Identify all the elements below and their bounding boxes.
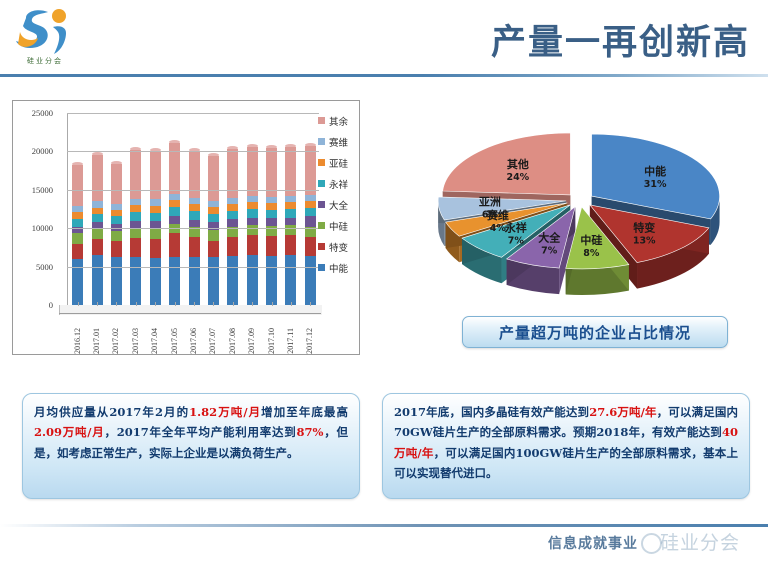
bar-segment-永祥 [227, 211, 238, 219]
pie-percent-永祥: 7% [508, 235, 525, 246]
bar-segment-大全 [305, 216, 316, 227]
bar-segment-特变 [285, 235, 296, 255]
bar-segment-亚硅 [72, 212, 83, 219]
bar-segment-其余 [111, 164, 122, 205]
note-plain: ，可以满足国内100GW硅片生产的全部原料需求，基本上可以实现替代进口。 [394, 446, 738, 480]
bar-series-container [68, 113, 320, 305]
bar-segment-中硅 [208, 230, 219, 240]
legend-swatch [318, 180, 325, 187]
x-tick-label: 2017.09 [247, 328, 256, 354]
bar-segment-大全 [285, 218, 296, 226]
x-tick-label: 2017.07 [208, 328, 217, 354]
legend-swatch [318, 243, 325, 250]
legend-label: 大全 [329, 198, 348, 212]
legend-label: 亚硅 [329, 156, 348, 170]
legend-swatch [318, 222, 325, 229]
bar-segment-永祥 [150, 213, 161, 221]
bar-segment-永祥 [169, 207, 180, 216]
bar-segment-特变 [227, 237, 238, 256]
pie-percent-其他: 24% [506, 172, 529, 183]
pie-chart-panel: 中能31%特变13%中硅8%大全7%永祥7%赛维4%亚洲6%其他24% [400, 100, 760, 310]
bar-cap [247, 144, 258, 148]
x-tick-mark [155, 302, 156, 306]
bar-segment-永祥 [92, 214, 103, 222]
bar-segment-中能 [189, 257, 200, 305]
pie-percent-特变: 13% [633, 235, 656, 246]
pie-label-其他: 其他 [507, 157, 529, 171]
footer-divider [0, 524, 768, 527]
y-tick-label: 15000 [32, 185, 53, 195]
gridline [67, 228, 319, 229]
watermark-circle-icon [641, 533, 662, 554]
bar-cap [208, 153, 219, 157]
note-plain: ，2017年全年平均产能利用率达到 [104, 425, 296, 439]
x-tick-mark [272, 302, 273, 306]
note-box-right: 2017年底，国内多晶硅有效产能达到27.6万吨/年，可以满足国内70GW硅片生… [382, 393, 750, 499]
bar-cap [266, 145, 277, 149]
x-tick-mark [116, 302, 117, 306]
bar-segment-特变 [72, 244, 83, 259]
logo-caption: 硅业分会 [14, 56, 76, 66]
x-tick-label: 2017.02 [111, 328, 120, 354]
bar-segment-亚硅 [92, 208, 103, 215]
legend-swatch [318, 159, 325, 166]
note-plain: 月均供应量从2017年2月的 [34, 405, 189, 419]
bar-cap [305, 143, 316, 147]
legend-item-赛维[interactable]: 赛维 [318, 136, 362, 147]
bar-segment-其余 [189, 151, 200, 199]
legend-item-中硅[interactable]: 中硅 [318, 220, 362, 231]
pie-percent-大全: 7% [541, 246, 558, 257]
bar-stack [247, 147, 258, 305]
x-tick-mark [78, 302, 79, 306]
x-tick-mark [233, 302, 234, 306]
legend-label: 中硅 [329, 219, 348, 233]
bar-segment-永祥 [266, 210, 277, 218]
y-tick-label: 0 [49, 300, 53, 310]
legend-item-其余[interactable]: 其余 [318, 115, 362, 126]
legend-item-永祥[interactable]: 永祥 [318, 178, 362, 189]
x-tick-mark [194, 302, 195, 306]
gridline [67, 151, 319, 152]
bar-segment-中能 [227, 256, 238, 305]
page-title: 产量一再创新高 [491, 14, 750, 65]
pie-percent-亚洲: 6% [482, 210, 499, 221]
y-tick-label: 5000 [36, 262, 53, 272]
bar-segment-中硅 [285, 225, 296, 235]
pie-percent-中硅: 8% [583, 248, 600, 259]
x-tick-label: 2017.01 [92, 328, 101, 354]
legend-label: 赛维 [329, 135, 348, 149]
bar-segment-中能 [266, 256, 277, 305]
bar-segment-中硅 [150, 229, 161, 239]
bar-segment-中硅 [111, 231, 122, 241]
bar-chart-legend: 其余赛维亚硅永祥大全中硅特变中能 [318, 115, 362, 283]
note-left-text: 月均供应量从2017年2月的1.82万吨/月增加至年底最高2.09万吨/月，20… [34, 402, 348, 463]
bar-segment-永祥 [130, 212, 141, 220]
bar-segment-特变 [305, 237, 316, 256]
bar-segment-大全 [189, 220, 200, 228]
x-tick-mark [213, 302, 214, 306]
bar-stack [92, 155, 103, 305]
pie-chart-caption-text: 产量超万吨的企业占比情况 [499, 322, 691, 343]
bar-segment-亚硅 [247, 202, 258, 209]
legend-swatch [318, 264, 325, 271]
bar-segment-中能 [150, 258, 161, 305]
bar-cap [111, 161, 122, 165]
x-tick-mark [291, 302, 292, 306]
bar-segment-大全 [130, 221, 141, 229]
note-box-left: 月均供应量从2017年2月的1.82万吨/月增加至年底最高2.09万吨/月，20… [22, 393, 360, 499]
bar-segment-大全 [169, 216, 180, 224]
gridline [67, 113, 319, 114]
bar-segment-特变 [130, 238, 141, 256]
note-highlight: 2.09万吨/月 [34, 425, 104, 439]
bar-segment-其余 [247, 147, 258, 196]
bar-segment-亚硅 [130, 205, 141, 212]
legend-swatch [318, 201, 325, 208]
x-tick-mark [97, 302, 98, 306]
legend-label: 其余 [329, 114, 348, 128]
bar-segment-亚硅 [189, 204, 200, 211]
header-divider [0, 74, 768, 77]
bar-stack [227, 149, 238, 305]
x-tick-mark [136, 302, 137, 306]
x-tick-label: 2017.04 [150, 328, 159, 354]
legend-label: 特变 [329, 240, 348, 254]
legend-item-特变[interactable]: 特变 [318, 241, 362, 252]
x-tick-label: 2017.11 [286, 328, 295, 354]
note-right-text: 2017年底，国内多晶硅有效产能达到27.6万吨/年，可以满足国内70GW硅片生… [394, 402, 738, 484]
bar-segment-永祥 [72, 219, 83, 227]
gridline [67, 267, 319, 268]
bar-segment-特变 [189, 237, 200, 258]
legend-swatch [318, 117, 325, 124]
bar-stack [305, 146, 316, 305]
x-tick-mark [252, 302, 253, 306]
bar-stack [169, 143, 180, 305]
legend-item-亚硅[interactable]: 亚硅 [318, 157, 362, 168]
bar-segment-中能 [285, 255, 296, 305]
bar-segment-亚硅 [227, 204, 238, 211]
y-tick-label: 20000 [32, 146, 53, 156]
bar-segment-大全 [227, 219, 238, 227]
bar-segment-中硅 [92, 229, 103, 239]
bar-segment-特变 [111, 241, 122, 258]
pie-chart-caption-banner: 产量超万吨的企业占比情况 [462, 316, 728, 348]
y-tick-label: 25000 [32, 108, 53, 118]
bar-segment-大全 [266, 218, 277, 226]
pie-label-亚洲: 亚洲 [479, 196, 501, 209]
bar-segment-中能 [247, 255, 258, 305]
legend-label: 永祥 [329, 177, 348, 191]
x-tick-mark [175, 302, 176, 306]
note-highlight: 27.6万吨/年 [589, 405, 656, 419]
bar-segment-特变 [208, 241, 219, 257]
bar-segment-中能 [305, 256, 316, 305]
bar-segment-其余 [92, 155, 103, 201]
bar-stack [285, 147, 296, 305]
pie-label-特变: 特变 [633, 220, 655, 234]
bar-segment-中能 [111, 257, 122, 305]
bar-segment-亚硅 [285, 202, 296, 209]
bar-segment-其余 [285, 147, 296, 196]
bar-chart-x-axis-labels: 2016.122017.012017.022017.032017.042017.… [59, 306, 321, 354]
legend-item-大全[interactable]: 大全 [318, 199, 362, 210]
bar-segment-特变 [92, 239, 103, 255]
pie-label-永祥: 永祥 [504, 220, 527, 234]
x-tick-label: 2017.12 [305, 328, 314, 354]
bar-segment-中能 [169, 257, 180, 305]
bar-segment-永祥 [189, 211, 200, 219]
x-tick-mark [310, 302, 311, 306]
bar-segment-亚硅 [150, 206, 161, 213]
bar-segment-永祥 [305, 208, 316, 216]
y-tick-label: 10000 [32, 223, 53, 233]
bar-stack [72, 165, 83, 305]
note-highlight: 87% [297, 425, 324, 439]
bar-stack [111, 164, 122, 305]
bar-segment-其余 [208, 156, 219, 201]
bar-segment-中能 [208, 257, 219, 305]
bar-segment-特变 [169, 233, 180, 258]
pie-label-中硅: 中硅 [580, 233, 602, 247]
legend-swatch [318, 138, 325, 145]
bar-stack [266, 148, 277, 305]
bar-segment-中硅 [130, 228, 141, 238]
bar-segment-特变 [247, 235, 258, 255]
x-tick-label: 2016.12 [73, 328, 82, 354]
pie-percent-赛维: 4% [490, 223, 507, 234]
legend-item-中能[interactable]: 中能 [318, 262, 362, 273]
bar-segment-其余 [130, 150, 141, 199]
x-tick-label: 2017.05 [170, 328, 179, 354]
bar-segment-中硅 [247, 225, 258, 235]
bar-segment-中硅 [72, 233, 83, 244]
bar-chart-y-axis-labels: 0500010000150002000025000 [13, 105, 57, 305]
bar-segment-亚硅 [169, 200, 180, 207]
bar-segment-中能 [92, 255, 103, 305]
bar-segment-大全 [247, 218, 258, 226]
pie-label-中能: 中能 [644, 164, 666, 178]
footer-slogan: 信息成就事业 [548, 533, 638, 553]
x-tick-label: 2017.06 [189, 328, 198, 354]
bar-segment-特变 [150, 239, 161, 258]
bar-segment-永祥 [285, 209, 296, 217]
slide-root: 硅业分会 产量一再创新高 0500010000150002000025000 2… [0, 0, 768, 575]
bar-segment-亚硅 [208, 207, 219, 214]
bar-segment-大全 [111, 224, 122, 231]
note-highlight: 1.82万吨/月 [189, 405, 261, 419]
bar-segment-特变 [266, 236, 277, 256]
bar-stack [208, 156, 219, 305]
x-tick-label: 2017.08 [228, 328, 237, 354]
bar-segment-其余 [72, 165, 83, 206]
x-tick-label: 2017.10 [267, 328, 276, 354]
pie-percent-中能: 31% [644, 179, 667, 190]
legend-label: 中能 [329, 261, 348, 275]
bar-chart-plot-area [59, 113, 311, 305]
pie-chart-svg: 中能31%特变13%中硅8%大全7%永祥7%赛维4%亚洲6%其他24% [400, 100, 760, 310]
x-tick-label: 2017.03 [131, 328, 140, 354]
bar-segment-永祥 [247, 209, 258, 217]
gridline [67, 190, 319, 191]
bar-segment-亚硅 [266, 203, 277, 210]
bar-segment-永祥 [208, 214, 219, 222]
note-plain: 2017年底，国内多晶硅有效产能达到 [394, 405, 589, 419]
footer-watermark: 硅业分会 [660, 528, 740, 555]
pie-label-大全: 大全 [538, 231, 561, 245]
bar-chart-panel: 0500010000150002000025000 2016.122017.01… [12, 100, 360, 355]
bar-segment-永祥 [111, 216, 122, 224]
note-plain: 增加至年底最高 [261, 405, 348, 419]
bar-segment-中能 [130, 257, 141, 305]
bar-segment-其余 [150, 151, 161, 200]
bar-segment-其余 [305, 146, 316, 195]
slide-header: 硅业分会 产量一再创新高 [0, 0, 768, 78]
